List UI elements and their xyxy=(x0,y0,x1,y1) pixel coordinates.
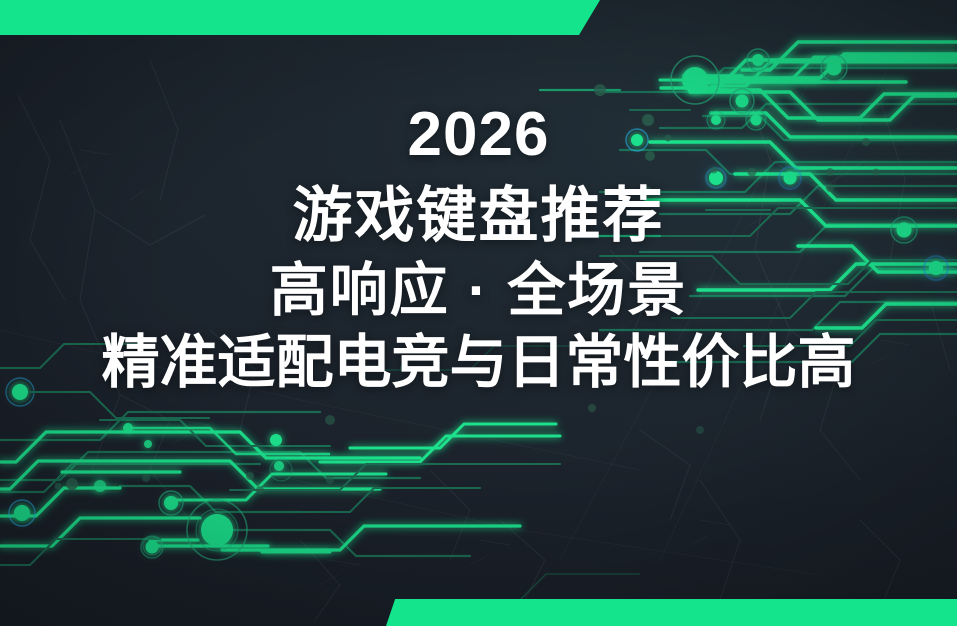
green-accent-bar-bottom xyxy=(386,599,957,626)
green-accent-bar-top xyxy=(0,0,600,35)
poster-canvas: 2026 游戏键盘推荐 高响应 · 全场景 精准适配电竞与日常性价比高 xyxy=(0,0,957,626)
vignette-overlay xyxy=(0,0,957,626)
